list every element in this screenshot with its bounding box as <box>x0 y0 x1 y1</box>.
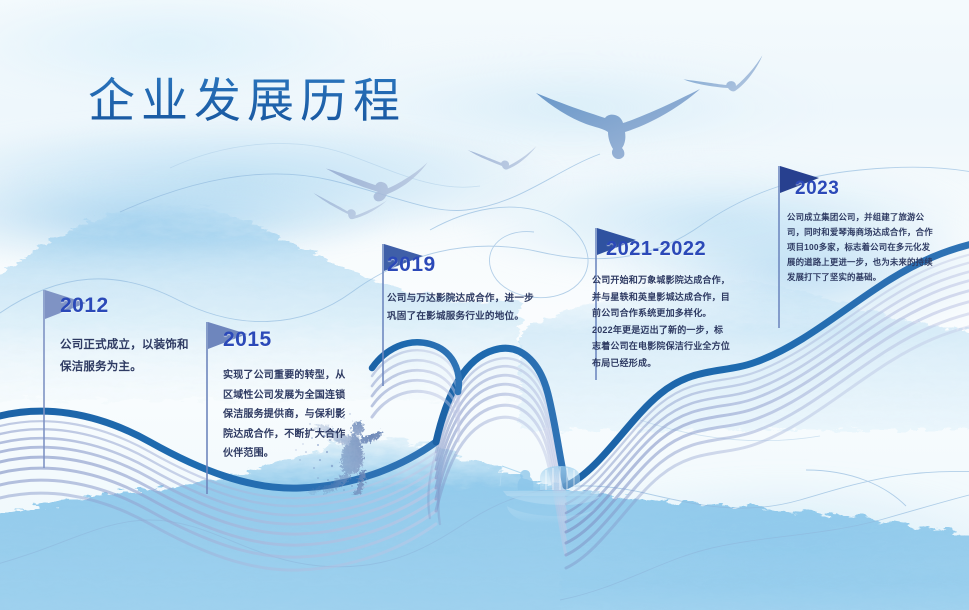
poster-canvas: 企业发展历程 2012 公司正式成立，以装饰和保洁服务为主。 2015 实现了公… <box>0 0 969 610</box>
milestone-desc-2023: 公司成立集团公司，并组建了旅游公司，同时和爱琴海商场达成合作，合作项目100多家… <box>787 210 935 285</box>
milestone-2015[interactable]: 2015 实现了公司重要的转型，从区域性公司发展为全国连锁保洁服务提供商，与保利… <box>203 318 343 518</box>
seagull-icon <box>326 162 428 201</box>
seagull-icon <box>311 190 388 224</box>
milestone-desc-2012: 公司正式成立，以装饰和保洁服务为主。 <box>60 334 190 378</box>
milestone-desc-2021-2022: 公司开始和万象城影院达成合作，并与星轶和英皇影城达成合作，目前公司合作系统更加多… <box>592 272 732 371</box>
seagull-icon <box>536 89 700 159</box>
milestone-2019[interactable]: 2019 公司与万达影院达成合作，进一步巩固了在影城服务行业的地位。 <box>379 240 539 430</box>
page-title: 企业发展历程 <box>88 62 406 131</box>
milestone-year-2012: 2012 <box>60 294 109 318</box>
milestone-desc-2019: 公司与万达影院达成合作，进一步巩固了在影城服务行业的地位。 <box>387 290 535 326</box>
milestone-2012[interactable]: 2012 公司正式成立，以装饰和保洁服务为主。 <box>40 286 180 486</box>
boat-icon <box>500 466 600 523</box>
milestone-year-2019: 2019 <box>387 253 436 277</box>
milestone-year-2023: 2023 <box>795 178 839 200</box>
milestone-year-2015: 2015 <box>223 328 272 352</box>
seagull-icon <box>468 146 537 169</box>
cloud-wash-bottom <box>504 464 969 610</box>
seagull-icon <box>682 55 769 102</box>
milestone-year-2021-2022: 2021-2022 <box>606 238 706 261</box>
milestone-2023[interactable]: 2023 公司成立集团公司，并组建了旅游公司，同时和爱琴海商场达成合作，合作项目… <box>775 162 955 342</box>
milestone-2021-2022[interactable]: 2021-2022 公司开始和万象城影院达成合作，并与星轶和英皇影城达成合作，目… <box>592 224 762 404</box>
milestone-desc-2015: 实现了公司重要的转型，从区域性公司发展为全国连锁保洁服务提供商，与保利影院达成合… <box>223 366 349 464</box>
